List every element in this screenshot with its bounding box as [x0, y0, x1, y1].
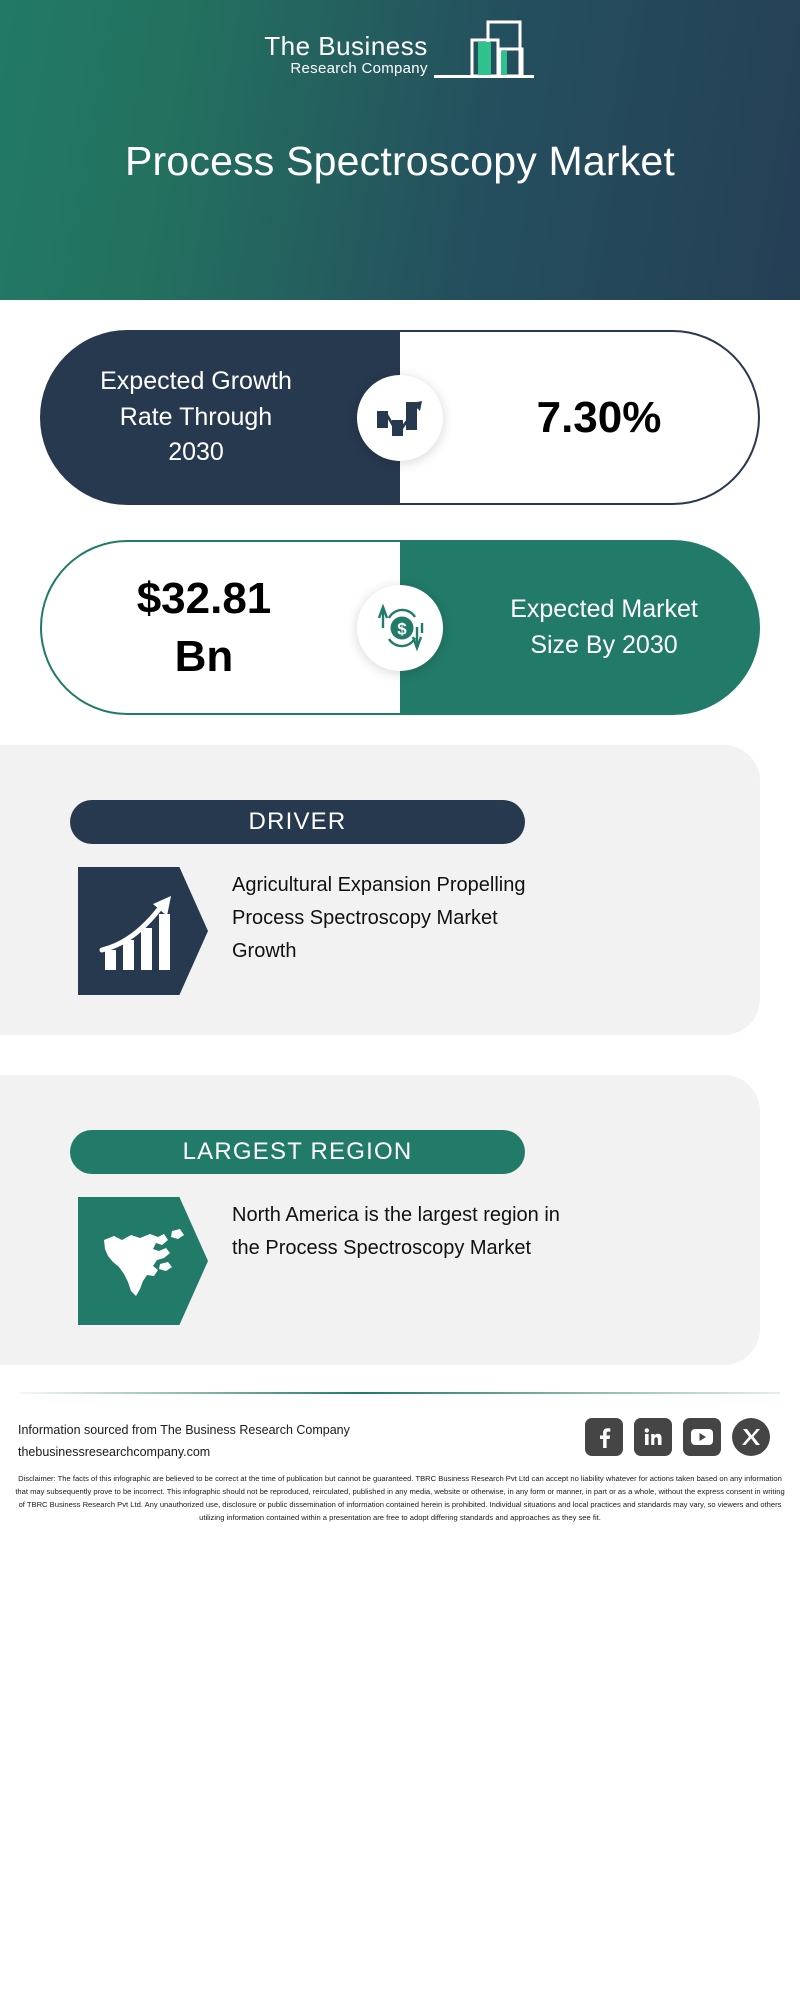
rising-bar-chart-icon — [78, 867, 208, 995]
disclaimer-text: Disclaimer: The facts of this infographi… — [14, 1472, 786, 1524]
stat-label-text: Expected Market Size By 2030 — [455, 592, 705, 663]
x-twitter-icon[interactable] — [732, 1418, 770, 1456]
stat-value-line-2: Bn — [137, 628, 272, 685]
largest-region-description: North America is the largest region in t… — [232, 1197, 562, 1265]
largest-region-content: North America is the largest region in t… — [78, 1197, 562, 1325]
largest-region-panel: LARGEST REGION North America is the larg… — [0, 1075, 760, 1365]
stat-value-text: 7.30% — [497, 389, 662, 446]
stat-card-market-size: $32.81 Bn Expected Market Size By 2030 $ — [40, 540, 760, 715]
stat-card-growth-rate: Expected Growth Rate Through 2030 7.30% — [40, 330, 760, 505]
logo-text: The Business Research Company — [264, 33, 428, 84]
logo-line-2: Research Company — [264, 60, 428, 78]
driver-pill-label: DRIVER — [70, 800, 525, 844]
driver-content: Agricultural Expansion Propelling Proces… — [78, 867, 562, 995]
stat-value-panel: 7.30% — [400, 330, 760, 505]
north-america-map-icon — [78, 1197, 208, 1325]
bar-chart-logo-mark — [430, 18, 536, 84]
dollar-exchange-icon: $ — [357, 585, 443, 671]
social-links — [585, 1418, 770, 1456]
growth-chart-arrow-icon — [357, 375, 443, 461]
footer-divider — [20, 1392, 780, 1394]
linkedin-icon[interactable] — [634, 1418, 672, 1456]
stat-label-panel: Expected Market Size By 2030 — [400, 540, 760, 715]
stat-label-text: Expected Growth Rate Through 2030 — [95, 364, 345, 471]
company-logo: The Business Research Company — [0, 18, 800, 84]
largest-region-pill-label: LARGEST REGION — [70, 1130, 525, 1174]
footer-source-line-1: Information sourced from The Business Re… — [18, 1420, 350, 1442]
facebook-icon[interactable] — [585, 1418, 623, 1456]
logo-line-1: The Business — [264, 33, 428, 60]
stat-value-line-1: $32.81 — [137, 570, 272, 627]
svg-text:$: $ — [397, 619, 407, 638]
driver-description: Agricultural Expansion Propelling Proces… — [232, 867, 562, 968]
page-title: Process Spectroscopy Market — [0, 138, 800, 185]
driver-panel: DRIVER Agricultural Expansion Propelling… — [0, 745, 760, 1035]
header-banner: The Business Research Company Process Sp… — [0, 0, 800, 300]
footer-source-info: Information sourced from The Business Re… — [18, 1420, 350, 1464]
footer-website-url[interactable]: thebusinessresearchcompany.com — [18, 1442, 350, 1464]
stat-label-panel: Expected Growth Rate Through 2030 — [40, 330, 400, 505]
youtube-icon[interactable] — [683, 1418, 721, 1456]
stat-value-text: $32.81 Bn — [137, 570, 306, 684]
stat-value-panel: $32.81 Bn — [40, 540, 400, 715]
